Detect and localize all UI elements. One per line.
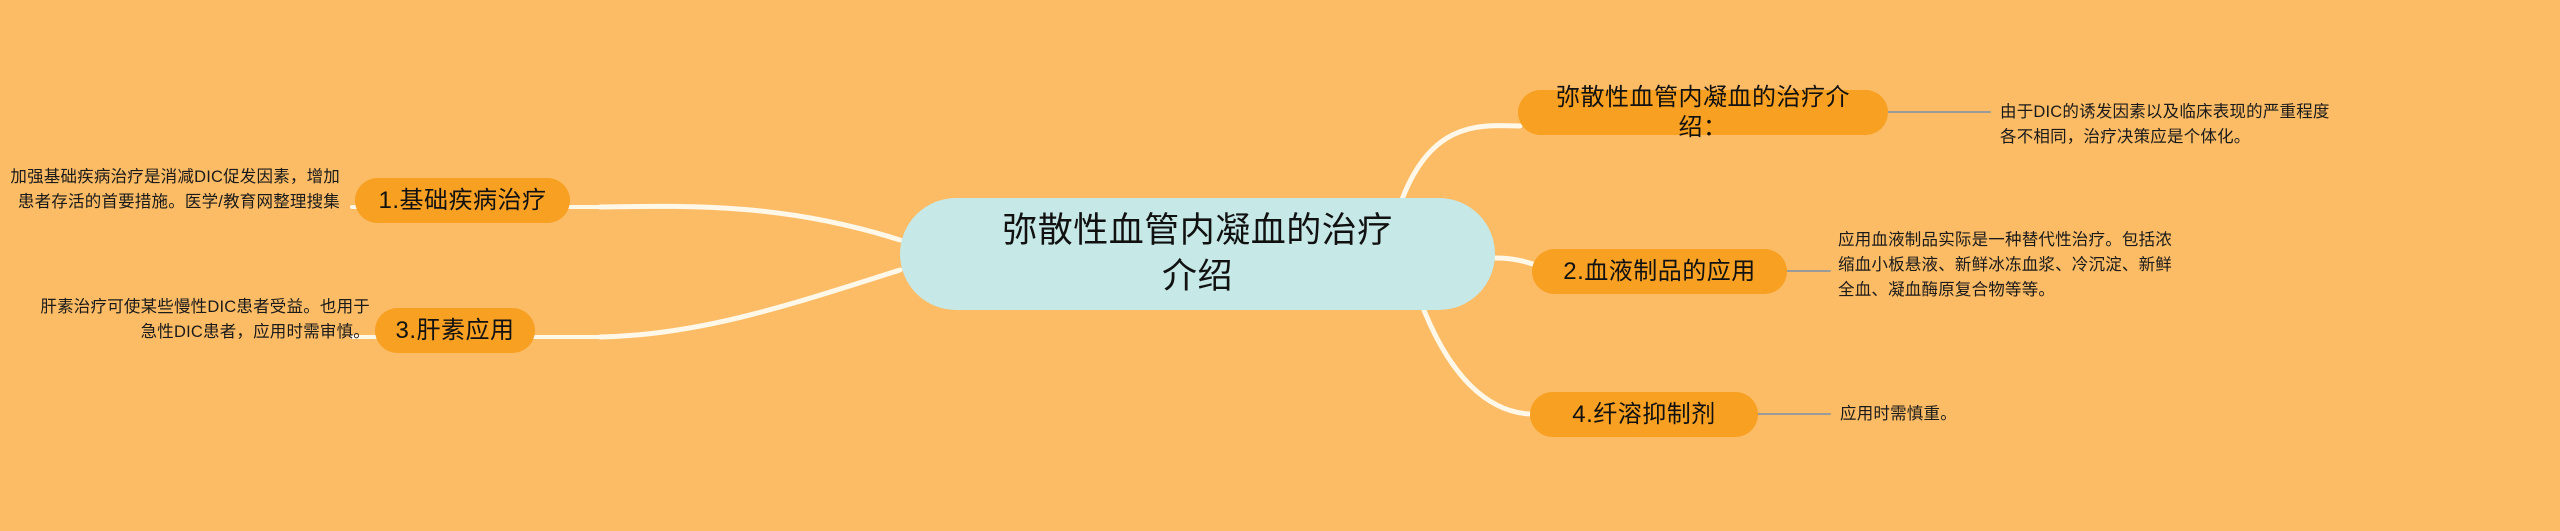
root-node[interactable]: 弥散性血管内凝血的治疗 介绍 (900, 198, 1495, 310)
branch-label-fibrinolysis-inhibitor: 4.纤溶抑制剂 (1572, 400, 1716, 430)
branch-label-heparin-application: 3.肝素应用 (395, 316, 514, 346)
leaf-text-basic-disease-treatment: 加强基础疾病治疗是消减DIC促发因素，增加 患者存活的首要措施。医学/教育网整理… (10, 165, 340, 215)
branch-node-basic-disease-treatment[interactable]: 1.基础疾病治疗 (355, 178, 570, 223)
branch-node-blood-products-application[interactable]: 2.血液制品的应用 (1532, 249, 1787, 294)
leaf-text-fibrinolysis-inhibitor: 应用时需慎重。 (1840, 402, 2260, 427)
mindmap-canvas: 弥散性血管内凝血的治疗 介绍 1.基础疾病治疗 加强基础疾病治疗是消减DIC促发… (0, 0, 2560, 531)
branch-node-dic-treatment-intro[interactable]: 弥散性血管内凝血的治疗介绍： (1518, 90, 1888, 135)
branch-node-heparin-application[interactable]: 3.肝素应用 (375, 308, 535, 353)
wire-root-to-heparin (600, 270, 900, 337)
wire-root-to-intro (1400, 126, 1520, 205)
root-node-label: 弥散性血管内凝血的治疗 介绍 (1002, 208, 1393, 300)
leaf-text-blood-products-application: 应用血液制品实际是一种替代性治疗。包括浓 缩血小板悬液、新鲜冰冻血浆、冷沉淀、新… (1838, 228, 2348, 303)
leaf-text-heparin-application: 肝素治疗可使某些慢性DIC患者受益。也用于 急性DIC患者，应用时需审慎。 (40, 295, 370, 345)
wire-root-to-basic (600, 206, 900, 240)
wire-root-to-fibrinolysis (1420, 300, 1530, 414)
branch-label-basic-disease-treatment: 1.基础疾病治疗 (378, 186, 546, 216)
branch-label-blood-products-application: 2.血液制品的应用 (1563, 257, 1756, 287)
leaf-text-dic-treatment-intro: 由于DIC的诱发因素以及临床表现的严重程度 各不相同，治疗决策应是个体化。 (2000, 100, 2520, 150)
branch-label-dic-treatment-intro: 弥散性血管内凝血的治疗介绍： (1536, 83, 1870, 143)
branch-node-fibrinolysis-inhibitor[interactable]: 4.纤溶抑制剂 (1530, 392, 1758, 437)
